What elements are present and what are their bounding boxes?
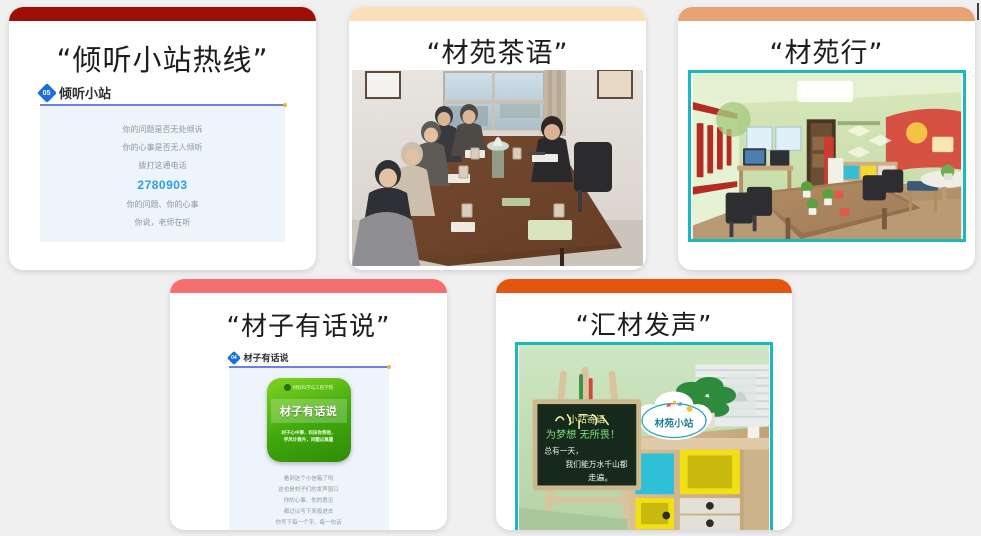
card-title: “倾听小站热线”: [9, 37, 316, 79]
card-title: “汇材发声”: [496, 305, 792, 342]
article-line: 都会被认真对读懂: [286, 529, 330, 530]
card-campus-walk[interactable]: “材苑行”: [678, 7, 975, 270]
article-line: 你的问题是否无处倾诉: [123, 124, 203, 135]
blackboard-line-5: 走遍。: [588, 473, 613, 483]
card-content: [349, 70, 646, 270]
card-content: 04 材子有话说 材料科学与工程学院 材子有话说 材子心中事，科技你: [170, 343, 447, 530]
reading-room-photo: [688, 70, 966, 242]
blackboard-easel-photo: 材苑小站 小站寄语 为梦想 无所畏！: [515, 342, 773, 530]
meeting-room-discussion-photo: [352, 70, 643, 266]
article-line: 拨打这通电话: [139, 160, 187, 171]
slide-canvas: “倾听小站热线” 05 倾听小站 你的问题是否无处倾诉 你的心事是否无人倾听 拨…: [0, 0, 981, 536]
article-line: 你的问题、你的心事: [127, 199, 199, 210]
card-accent-bar: [170, 279, 447, 293]
article-line: 你的心事、你的意见: [284, 496, 334, 504]
wechat-article-screenshot: 04 材子有话说 材料科学与工程学院 材子有话说 材子心中事，科技你: [229, 351, 389, 530]
card-content: 05 倾听小站 你的问题是否无处倾诉 你的心事是否无人倾听 拨打这通电话 278…: [9, 79, 316, 270]
cloud-sign-label: 材苑小站: [655, 416, 694, 429]
blackboard-line-4: 我们能万水千山都: [566, 459, 628, 469]
card-accent-bar: [496, 279, 792, 293]
card-content: [678, 70, 975, 270]
header-divider: [40, 104, 285, 106]
blackboard-line-3: 总有一天，: [544, 446, 583, 456]
card-title: “材苑茶语”: [349, 31, 646, 70]
poster-subtitle: 材子心中事，科技你我他，学风计教升，问题过高量: [282, 430, 336, 443]
article-line: 你的心事是否无人倾听: [123, 142, 203, 153]
wechat-article-screenshot: 05 倾听小站 你的问题是否无处倾诉 你的心事是否无人倾听 拨打这通电话 278…: [40, 83, 285, 242]
article-line: 都过以写下来投进去: [284, 507, 334, 515]
card-tea-talk[interactable]: “材苑茶语”: [349, 7, 646, 270]
article-header-title: 倾听小站: [59, 83, 111, 102]
article-line: 你写下每一个字、每一句话: [275, 518, 341, 526]
card-collective-voice[interactable]: “汇材发声”: [496, 279, 792, 530]
article-header-title: 材子有话说: [244, 351, 289, 364]
article-body-panel: 材料科学与工程学院 材子有话说 材子心中事，科技你我他，学风计教升，问题过高量 …: [229, 368, 389, 530]
text-cursor-caret: [977, 3, 979, 20]
article-header: 04 材子有话说: [229, 351, 389, 364]
article-line: 看到这个小信箱了吗: [284, 474, 334, 482]
article-header: 05 倾听小站: [40, 83, 285, 102]
card-title: “材子有话说”: [170, 306, 447, 343]
app-poster-graphic: 材料科学与工程学院 材子有话说 材子心中事，科技你我他，学风计教升，问题过高量: [267, 378, 351, 462]
card-listen-hotline[interactable]: “倾听小站热线” 05 倾听小站 你的问题是否无处倾诉 你的心事是否无人倾听 拨…: [9, 7, 316, 270]
card-accent-bar: [9, 7, 316, 21]
section-number-badge: 05: [37, 83, 57, 103]
article-body-panel: 你的问题是否无处倾诉 你的心事是否无人倾听 拨打这通电话 2780903 你的问…: [40, 106, 285, 242]
poster-title-band: 材子有话说: [271, 399, 347, 423]
card-content: 材苑小站 小站寄语 为梦想 无所畏！: [496, 342, 792, 530]
school-emblem-icon: [284, 384, 291, 391]
poster-school-line: 材料科学与工程学院: [284, 384, 334, 391]
card-accent-bar: [349, 7, 646, 21]
article-line: 这也是材子们的发声窗口: [278, 485, 339, 493]
hotline-phone-number: 2780903: [137, 178, 187, 192]
blackboard-line-2: 为梦想 无所畏！: [546, 428, 620, 441]
card-students-speak[interactable]: “材子有话说” 04 材子有话说 材料科学与工程学院: [170, 279, 447, 530]
header-divider: [229, 366, 389, 368]
card-title: “材苑行”: [678, 31, 975, 70]
card-accent-bar: [678, 7, 975, 21]
section-number-badge: 04: [226, 350, 240, 364]
blackboard-line-1: 小站寄语: [568, 414, 605, 426]
article-line: 你说，老师在听: [135, 217, 191, 228]
